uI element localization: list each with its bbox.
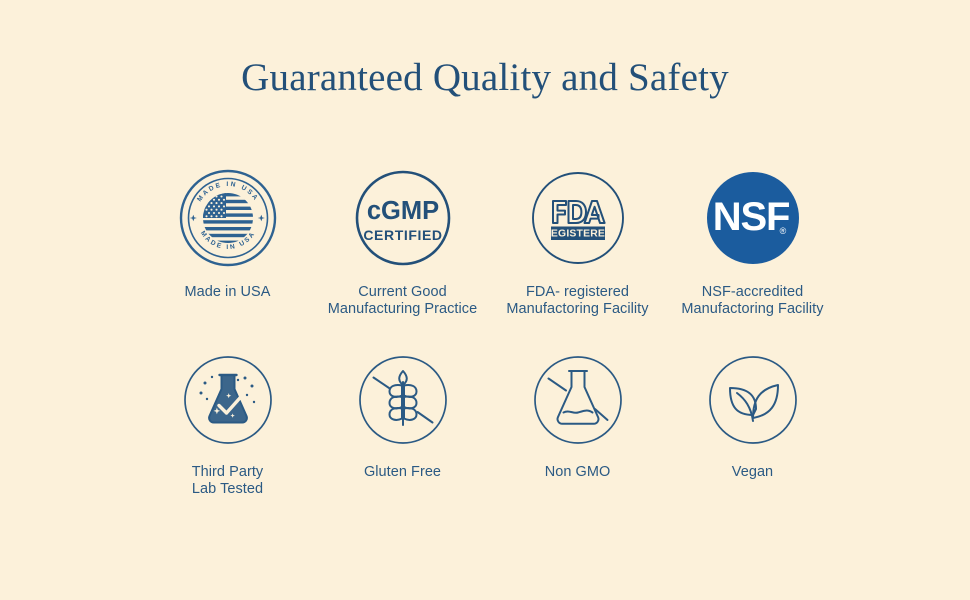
badge-vegan: Vegan: [665, 352, 840, 481]
badge-fda-registered: REGISTERED FDA- registered Manufactoring…: [490, 166, 665, 317]
erlenmeyer-flask-crossed-out-icon: [533, 352, 623, 448]
badge-label: Non GMO: [545, 464, 611, 481]
certification-badge-row-2: Third Party Lab Tested: [140, 352, 840, 497]
wheat-stalk-crossed-out-icon: [358, 352, 448, 448]
nsf-accredited-icon: NSF ®: [703, 166, 803, 270]
badge-label: NSF-accredited Manufactoring Facility: [681, 284, 823, 317]
registered-trademark-text: ®: [779, 226, 786, 236]
badge-label: Gluten Free: [364, 464, 441, 481]
cgmp-certified-icon: cGMP CERTIFIED: [353, 166, 453, 270]
badge-cgmp-certified: cGMP CERTIFIED Current Good Manufacturin…: [315, 166, 490, 317]
certification-badge-row-1: MADE IN USA MADE IN USA Made in USA: [140, 166, 840, 317]
badge-nsf-accredited: NSF ® NSF-accredited Manufactoring Facil…: [665, 166, 840, 317]
badge-third-party-lab-tested: Third Party Lab Tested: [140, 352, 315, 497]
badge-label: Third Party Lab Tested: [192, 464, 263, 497]
lab-flask-checkmark-icon: [183, 352, 273, 448]
badge-made-in-usa: MADE IN USA MADE IN USA Made in USA: [140, 166, 315, 301]
badge-non-gmo: Non GMO: [490, 352, 665, 481]
made-in-usa-seal-icon: MADE IN USA MADE IN USA: [178, 166, 278, 270]
fda-registered-icon: REGISTERED: [528, 166, 628, 270]
cgmp-mark-text: cGMP: [366, 197, 438, 225]
fda-registered-text: REGISTERED: [543, 229, 613, 240]
nsf-mark-text: NSF: [712, 195, 788, 239]
badge-label: Current Good Manufacturing Practice: [328, 284, 477, 317]
page-title: Guaranteed Quality and Safety: [0, 52, 970, 104]
guarantee-badges-page: Guaranteed Quality and Safety: [0, 0, 970, 600]
two-leaves-icon: [708, 352, 798, 448]
badge-label: Made in USA: [185, 284, 271, 301]
badge-gluten-free: Gluten Free: [315, 352, 490, 481]
badge-label: FDA- registered Manufactoring Facility: [506, 284, 648, 317]
badge-label: Vegan: [732, 464, 773, 481]
cgmp-certified-text: CERTIFIED: [363, 227, 442, 243]
